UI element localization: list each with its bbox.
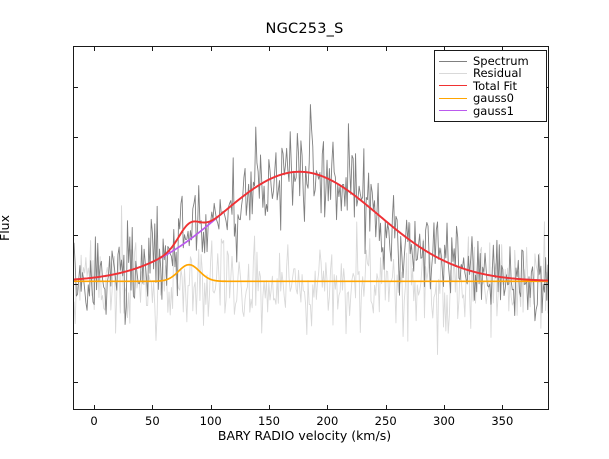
x-tick-label: 350: [491, 414, 513, 428]
legend-item-gauss1[interactable]: gauss1: [439, 105, 541, 117]
x-tick-mark: [269, 46, 270, 51]
y-axis-label: Flux: [0, 215, 12, 241]
y-tick-mark: [73, 235, 78, 236]
x-tick-mark: [444, 405, 445, 410]
x-tick-mark: [94, 46, 95, 51]
y-tick-mark: [544, 333, 549, 334]
x-tick-mark: [327, 405, 328, 410]
legend-label: Residual: [473, 67, 522, 79]
y-tick-mark: [73, 87, 78, 88]
legend-swatch-icon: [439, 61, 467, 62]
legend-swatch-icon: [439, 110, 467, 111]
y-tick-mark: [544, 186, 549, 187]
x-tick-mark: [152, 405, 153, 410]
legend-swatch-icon: [439, 73, 467, 74]
x-tick-mark: [211, 46, 212, 51]
x-tick-label: 100: [200, 414, 222, 428]
page-title: NGC253_S: [0, 21, 609, 37]
legend-swatch-icon: [439, 98, 467, 99]
legend-item-gauss0[interactable]: gauss0: [439, 92, 541, 104]
y-tick-mark: [73, 333, 78, 334]
legend-label: gauss1: [473, 105, 514, 117]
x-tick-mark: [502, 405, 503, 410]
y-tick-mark: [73, 382, 78, 383]
x-tick-label: 250: [375, 414, 397, 428]
x-tick-label: 50: [145, 414, 160, 428]
x-tick-label: 200: [316, 414, 338, 428]
x-tick-mark: [152, 46, 153, 51]
x-tick-mark: [269, 405, 270, 410]
y-tick-mark: [544, 284, 549, 285]
legend-label: gauss0: [473, 92, 514, 104]
x-tick-label: 300: [433, 414, 455, 428]
y-tick-mark: [73, 137, 78, 138]
x-axis-label: BARY RADIO velocity (km/s): [0, 428, 609, 443]
x-tick-label: 0: [90, 414, 97, 428]
x-tick-mark: [211, 405, 212, 410]
series-spectrum: [74, 105, 548, 325]
y-tick-mark: [544, 382, 549, 383]
figure-canvas: NGC253_S 050100150200250300350-1-0.500.5…: [0, 0, 609, 459]
x-tick-mark: [386, 46, 387, 51]
x-tick-mark: [327, 46, 328, 51]
y-tick-mark: [73, 284, 78, 285]
legend-item-residual[interactable]: Residual: [439, 67, 541, 79]
x-tick-label: 150: [258, 414, 280, 428]
y-tick-mark: [73, 186, 78, 187]
chart-legend: SpectrumResidualTotal Fitgauss0gauss1: [434, 50, 547, 122]
legend-swatch-icon: [439, 85, 467, 86]
x-tick-mark: [386, 405, 387, 410]
x-tick-mark: [94, 405, 95, 410]
y-tick-mark: [544, 235, 549, 236]
y-tick-mark: [544, 137, 549, 138]
